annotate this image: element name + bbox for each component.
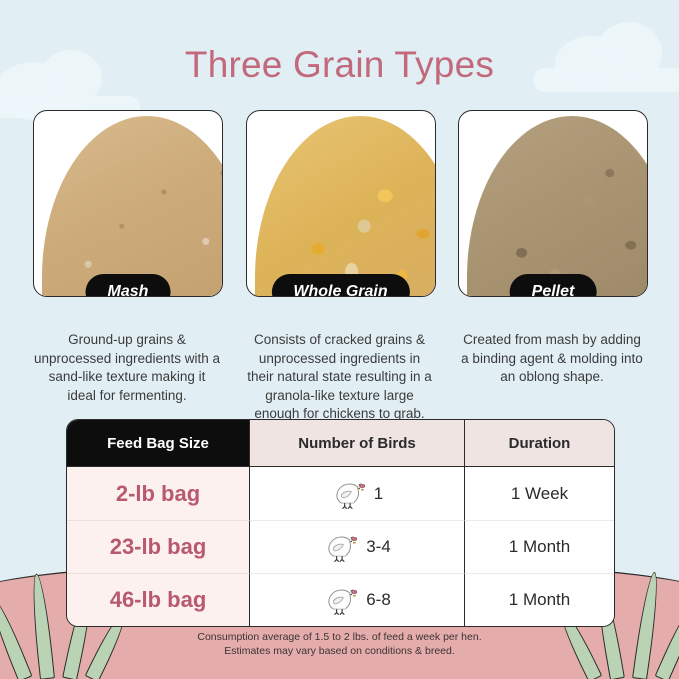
cell-bag-size: 2-lb bag	[67, 467, 249, 520]
header-feed-bag-size: Feed Bag Size	[67, 420, 249, 466]
grain-cards-row: Mash Ground-up grains & unprocessed ingr…	[33, 110, 646, 424]
whole-grain-photo	[255, 116, 436, 297]
mash-label: Mash	[86, 274, 171, 297]
chicken-icon	[331, 479, 365, 509]
table-header-row: Feed Bag Size Number of Birds Duration	[67, 420, 614, 467]
cell-number-of-birds: 6-8	[249, 573, 464, 626]
footnote: Consumption average of 1.5 to 2 lbs. of …	[0, 630, 679, 658]
table-row: 2-lb bag	[67, 467, 614, 520]
mash-grain-photo	[42, 116, 223, 297]
page-title: Three Grain Types	[0, 44, 679, 86]
cell-duration: 1 Week	[464, 467, 614, 520]
mash-description: Ground-up grains & unprocessed ingredien…	[33, 331, 221, 405]
bird-count: 1	[374, 484, 383, 504]
table-row: 23-lb bag	[67, 520, 614, 573]
header-number-of-birds: Number of Birds	[249, 420, 464, 466]
cell-number-of-birds: 3-4	[249, 520, 464, 573]
whole-grain-photo-frame: Whole Grain	[246, 110, 436, 297]
pellet-photo: Pellet	[458, 110, 648, 297]
footnote-line-1: Consumption average of 1.5 to 2 lbs. of …	[0, 630, 679, 644]
bird-count: 3-4	[366, 537, 391, 557]
cell-duration: 1 Month	[464, 520, 614, 573]
cell-bag-size: 23-lb bag	[67, 520, 249, 573]
pellet-label: Pellet	[510, 274, 597, 297]
table-row: 46-lb bag	[67, 573, 614, 626]
whole-grain-label: Whole Grain	[271, 274, 409, 297]
feed-bag-table: Feed Bag Size Number of Birds Duration 2…	[66, 419, 615, 627]
whole-grain-description: Consists of cracked grains & unprocessed…	[246, 331, 434, 424]
grain-card-whole-grain: Whole Grain Consists of cracked grains &…	[246, 110, 434, 424]
chicken-icon	[323, 532, 357, 562]
cell-duration: 1 Month	[464, 573, 614, 626]
pellet-grain-photo	[467, 116, 648, 297]
grain-card-pellet: Pellet Created from mash by adding a bin…	[458, 110, 646, 424]
bird-count: 6-8	[366, 590, 391, 610]
cell-bag-size: 46-lb bag	[67, 573, 249, 626]
pellet-description: Created from mash by adding a binding ag…	[458, 331, 646, 387]
footnote-line-2: Estimates may vary based on conditions &…	[0, 644, 679, 658]
mash-photo: Mash	[33, 110, 223, 297]
grain-card-mash: Mash Ground-up grains & unprocessed ingr…	[33, 110, 221, 424]
header-duration: Duration	[464, 420, 614, 466]
chicken-icon	[323, 585, 357, 615]
grain-types-infographic: Three Grain Types Mash Ground-up grains …	[0, 0, 679, 679]
table-body: 2-lb bag	[67, 467, 614, 626]
cell-number-of-birds: 1	[249, 467, 464, 520]
